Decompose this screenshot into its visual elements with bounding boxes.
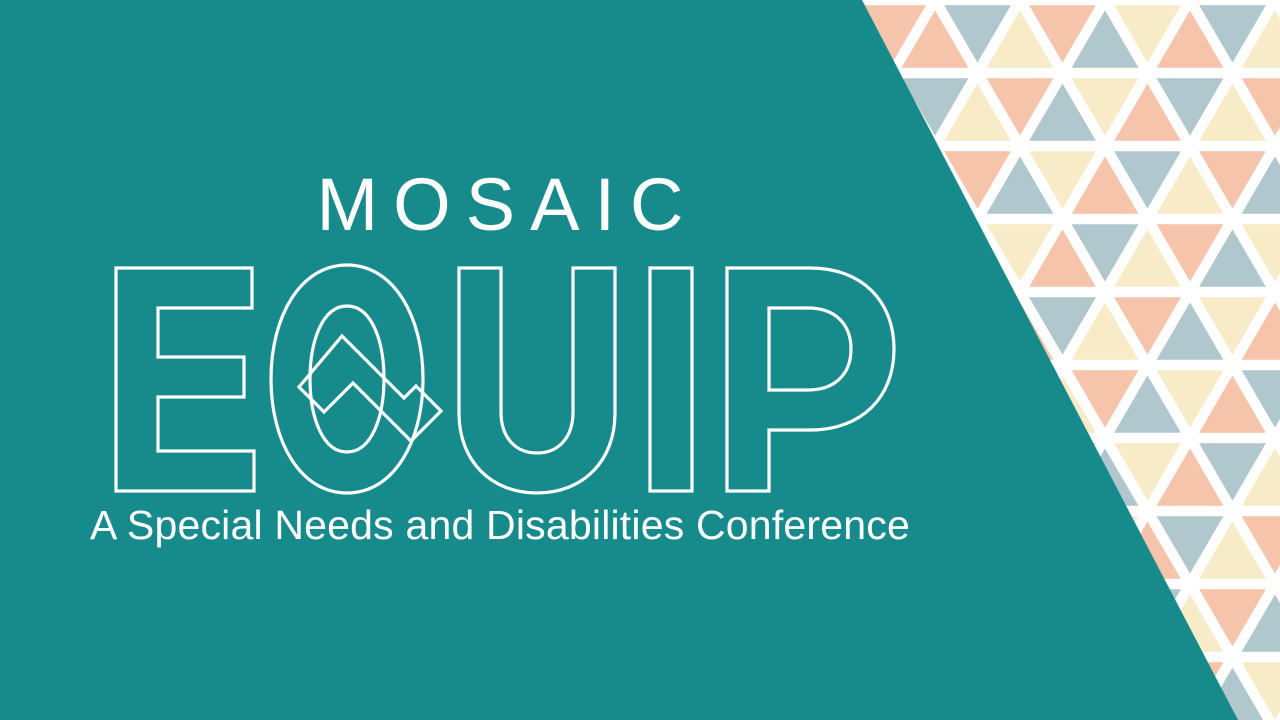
conference-banner: MOSAIC EQUIP	[0, 0, 1280, 720]
teal-diagonal-panel	[0, 0, 1280, 720]
teal-panel-svg	[0, 0, 1280, 720]
teal-wedge	[0, 0, 1238, 720]
